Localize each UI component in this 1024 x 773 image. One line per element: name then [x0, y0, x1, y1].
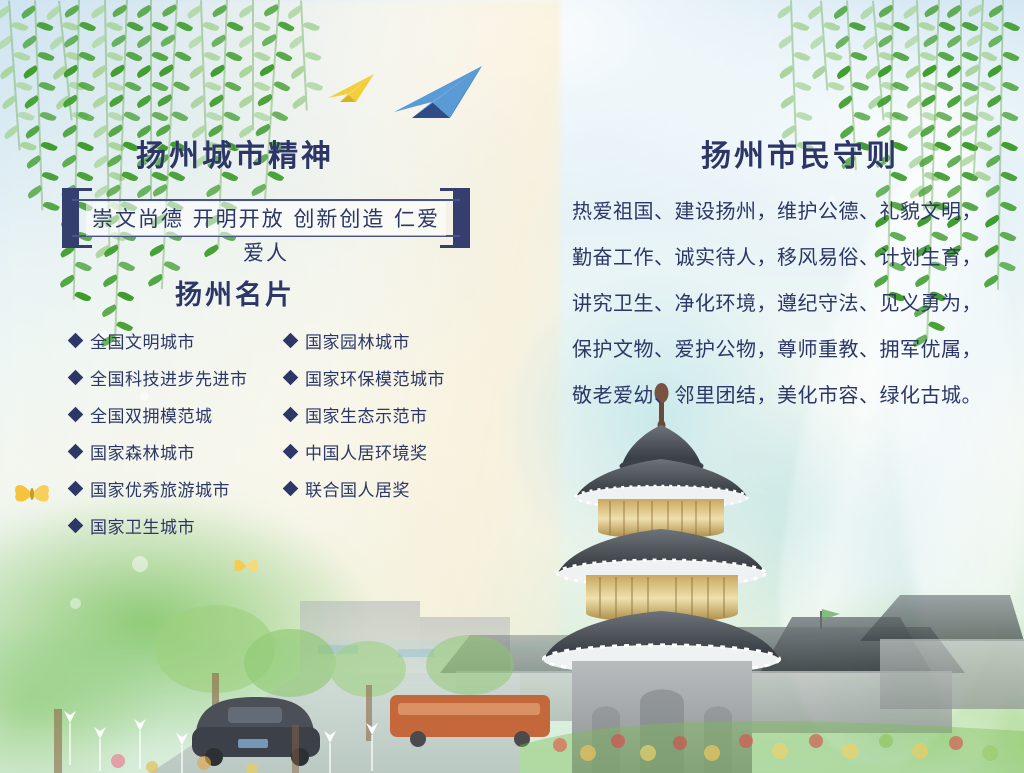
- right-column: 扬州市民守则 热爱祖国、建设扬州，维护公德、礼貌文明，勤奋工作、诚实待人，移风易…: [520, 0, 1024, 773]
- city-card-item: 国家卫生城市: [70, 507, 285, 544]
- city-card-item-label: 国家优秀旅游城市: [90, 476, 230, 501]
- city-card-item: 联合国人居奖: [285, 470, 490, 507]
- diamond-bullet-icon: [283, 407, 299, 423]
- motto-text: 崇文尚德 开明开放 创新创造 仁爱爱人: [86, 202, 446, 236]
- diamond-bullet-icon: [283, 370, 299, 386]
- motto-rule: [62, 188, 92, 191]
- citizen-rules-body: 热爱祖国、建设扬州，维护公德、礼貌文明，勤奋工作、诚实待人，移风易俗、计划生育，…: [572, 188, 1002, 418]
- diamond-bullet-icon: [283, 333, 299, 349]
- city-card-column-1: 全国文明城市全国科技进步先进市全国双拥模范城国家森林城市国家优秀旅游城市国家卫生…: [70, 322, 285, 544]
- diamond-bullet-icon: [68, 370, 84, 386]
- motto-rule: [440, 245, 470, 248]
- diamond-bullet-icon: [68, 407, 84, 423]
- city-card-item-label: 国家森林城市: [90, 439, 195, 464]
- diamond-bullet-icon: [283, 444, 299, 460]
- city-card-item-label: 国家卫生城市: [90, 513, 195, 538]
- diamond-bullet-icon: [68, 481, 84, 497]
- city-card-item: 全国文明城市: [70, 322, 285, 359]
- citizen-rules-heading: 扬州市民守则: [640, 131, 960, 175]
- city-card-item-label: 全国科技进步先进市: [90, 365, 248, 390]
- poster-root: 扬州城市精神 崇文尚德 开明开放 创新创造 仁爱爱人 扬州名片 全国文明城市全国…: [0, 0, 1024, 773]
- city-card-item-label: 国家生态示范市: [305, 402, 428, 427]
- city-card-heading: 扬州名片: [0, 273, 470, 312]
- city-card-item: 国家环保模范城市: [285, 359, 490, 396]
- spirit-heading: 扬州城市精神: [0, 131, 470, 175]
- motto-frame: 崇文尚德 开明开放 创新创造 仁爱爱人: [62, 180, 470, 256]
- motto-rule: [440, 188, 470, 191]
- motto-rule: [62, 245, 92, 248]
- city-card-item: 国家优秀旅游城市: [70, 470, 285, 507]
- city-card-item: 国家生态示范市: [285, 396, 490, 433]
- left-column: 扬州城市精神 崇文尚德 开明开放 创新创造 仁爱爱人 扬州名片 全国文明城市全国…: [0, 0, 520, 773]
- citizen-rule-line: 敬老爱幼、邻里团结，美化市容、绿化古城。: [572, 372, 1002, 418]
- city-card-item: 全国双拥模范城: [70, 396, 285, 433]
- city-card-item-label: 联合国人居奖: [305, 476, 410, 501]
- citizen-rule-line: 热爱祖国、建设扬州，维护公德、礼貌文明，: [572, 188, 1002, 234]
- motto-rule-top: [72, 199, 460, 201]
- motto-bracket-left: [62, 188, 79, 248]
- diamond-bullet-icon: [68, 444, 84, 460]
- motto-bracket-right: [453, 188, 470, 248]
- city-card-item-label: 国家环保模范城市: [305, 365, 445, 390]
- diamond-bullet-icon: [68, 333, 84, 349]
- city-card-item: 全国科技进步先进市: [70, 359, 285, 396]
- city-card-item-label: 全国文明城市: [90, 328, 195, 353]
- city-card-item-label: 全国双拥模范城: [90, 402, 213, 427]
- city-card-column-2: 国家园林城市国家环保模范城市国家生态示范市中国人居环境奖联合国人居奖: [285, 322, 490, 507]
- city-card-item: 中国人居环境奖: [285, 433, 490, 470]
- citizen-rule-line: 保护文物、爱护公物，尊师重教、拥军优属，: [572, 326, 1002, 372]
- city-card-item-label: 国家园林城市: [305, 328, 410, 353]
- city-card-item: 国家森林城市: [70, 433, 285, 470]
- city-card-item-label: 中国人居环境奖: [305, 439, 428, 464]
- diamond-bullet-icon: [68, 518, 84, 534]
- citizen-rule-line: 勤奋工作、诚实待人，移风易俗、计划生育，: [572, 234, 1002, 280]
- citizen-rule-line: 讲究卫生、净化环境，遵纪守法、见义勇为，: [572, 280, 1002, 326]
- city-card-item: 国家园林城市: [285, 322, 490, 359]
- diamond-bullet-icon: [283, 481, 299, 497]
